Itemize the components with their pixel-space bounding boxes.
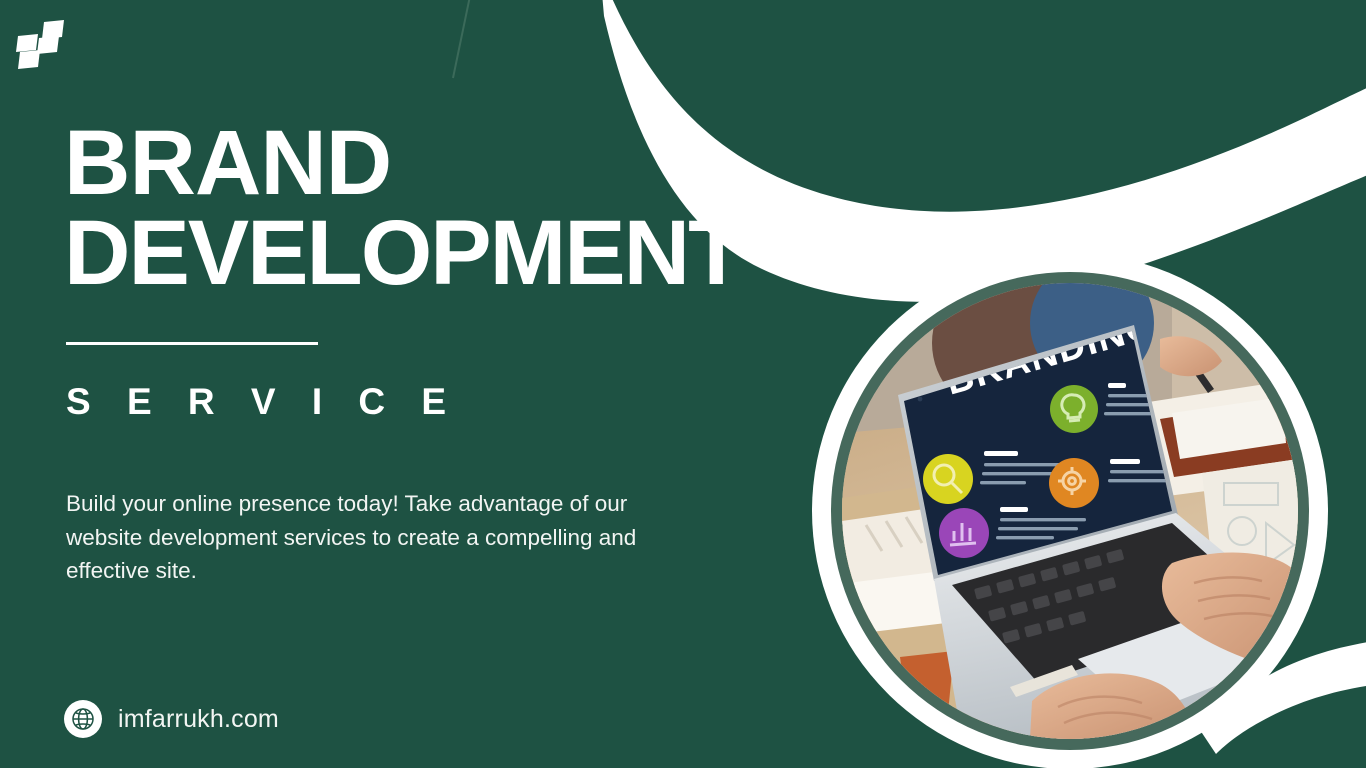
logo-block-top-right <box>42 20 64 39</box>
headline-line-2: DEVELOPMENT <box>64 208 864 298</box>
headline-block: BRAND DEVELOPMENT S E R V I C E Build yo… <box>64 118 864 587</box>
headline-line-1: BRAND <box>64 112 391 214</box>
footer: imfarrukh.com <box>64 700 279 738</box>
subtitle: S E R V I C E <box>66 381 864 423</box>
screen-item-research-text <box>984 451 1018 456</box>
globe-icon <box>64 700 102 738</box>
brand-development-poster: BRAND DEVELOPMENT S E R V I C E Build yo… <box>0 0 1366 768</box>
webcam-dot <box>918 397 923 402</box>
website-url[interactable]: imfarrukh.com <box>118 705 279 734</box>
hero-photo: BRANDING <box>842 283 1298 739</box>
stair-step-blocks-logo[interactable] <box>14 18 70 70</box>
logo-block-mid-left <box>16 34 38 52</box>
divider-rule <box>66 342 318 345</box>
hairline-accent <box>453 0 470 78</box>
page-title: BRAND DEVELOPMENT <box>64 118 864 298</box>
hero-photo-circle: BRANDING <box>812 253 1328 768</box>
laptop-branding-photo: BRANDING <box>842 283 1298 739</box>
logo-block-mid-right <box>37 36 59 54</box>
logo-block-bottom-left <box>18 50 40 69</box>
body-paragraph: Build your online presence today! Take a… <box>66 487 646 587</box>
